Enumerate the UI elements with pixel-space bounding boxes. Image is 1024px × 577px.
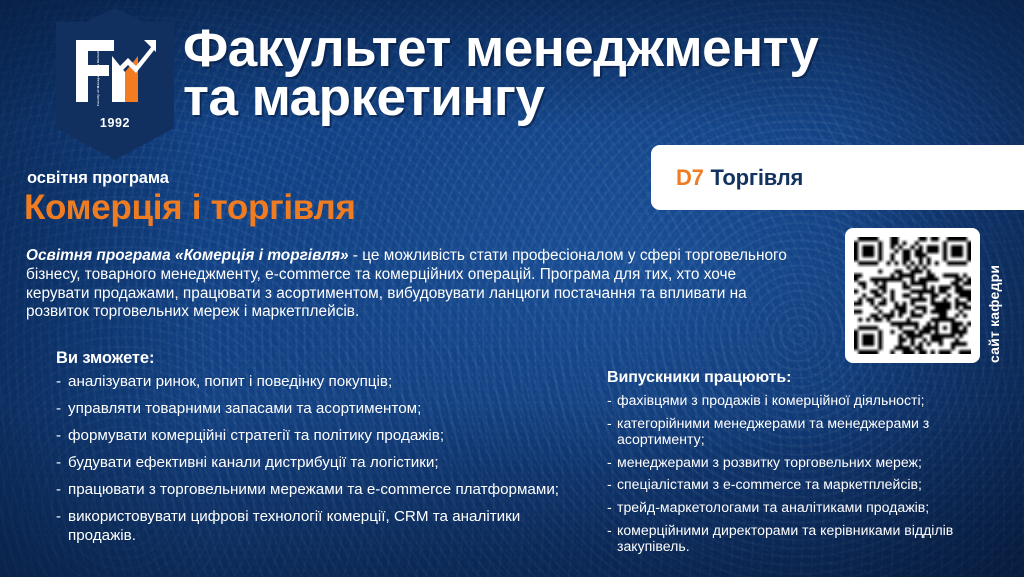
careers-column: Випускники працюють: фахівцями з продажі…: [607, 369, 977, 561]
list-item: працювати з торговельними мережами та e-…: [56, 481, 586, 500]
list-item: будувати ефективні канали дистрибуції та…: [56, 454, 586, 473]
program-description: Освітня програма «Комерція і торгівля» -…: [26, 247, 801, 321]
skills-list: аналізувати ринок, попит і поведінку пок…: [56, 373, 586, 545]
logo-vertical-text: Faculty of Management & Marketing: [96, 60, 100, 106]
skills-column: Ви зможете: аналізувати ринок, попит і п…: [56, 349, 586, 554]
qr-code-canvas: [854, 237, 971, 354]
list-item: трейд-маркетологами та аналітиками прода…: [607, 499, 977, 516]
skills-heading: Ви зможете:: [56, 349, 586, 368]
poster-root: Faculty of Management & Marketing 1992 Ф…: [0, 0, 1024, 577]
fm-monogram-icon: [56, 34, 174, 108]
badge-label: Торгівля: [711, 165, 804, 191]
qr-caption: сайт кафедри: [986, 228, 1002, 363]
list-item: спеціалістами з e-commerce та маркетплей…: [607, 476, 977, 493]
list-item: управляти товарними запасами та асортиме…: [56, 400, 586, 419]
list-item: фахівцями з продажів і комерційної діяль…: [607, 392, 977, 409]
list-item: менеджерами з розвитку торговельних мере…: [607, 454, 977, 471]
program-title: Комерція і торгівля: [24, 188, 356, 228]
logo-year: 1992: [56, 116, 174, 130]
title-line-2: та маркетингу: [183, 73, 1023, 122]
qr-code-icon[interactable]: [845, 228, 980, 363]
careers-list: фахівцями з продажів і комерційної діяль…: [607, 392, 977, 555]
list-item: використовувати цифрові технології комер…: [56, 508, 586, 545]
program-kicker: освітня програма: [27, 169, 169, 188]
list-item: комерційними директорами та керівниками …: [607, 522, 977, 555]
careers-heading: Випускники працюють:: [607, 369, 977, 387]
badge-code: D7: [676, 165, 704, 191]
list-item: категорійними менеджерами та менеджерами…: [607, 415, 977, 448]
list-item: формувати комерційні стратегії та політи…: [56, 427, 586, 446]
program-description-emphasis: Освітня програма «Комерція і торгівля»: [26, 247, 349, 264]
page-title: Факультет менеджменту та маркетингу: [183, 24, 1023, 123]
header: Faculty of Management & Marketing 1992 Ф…: [0, 0, 1024, 150]
program-code-badge: D7 Торгівля: [651, 145, 1024, 210]
faculty-logo: Faculty of Management & Marketing 1992: [56, 8, 174, 160]
list-item: аналізувати ринок, попит і поведінку пок…: [56, 373, 586, 392]
